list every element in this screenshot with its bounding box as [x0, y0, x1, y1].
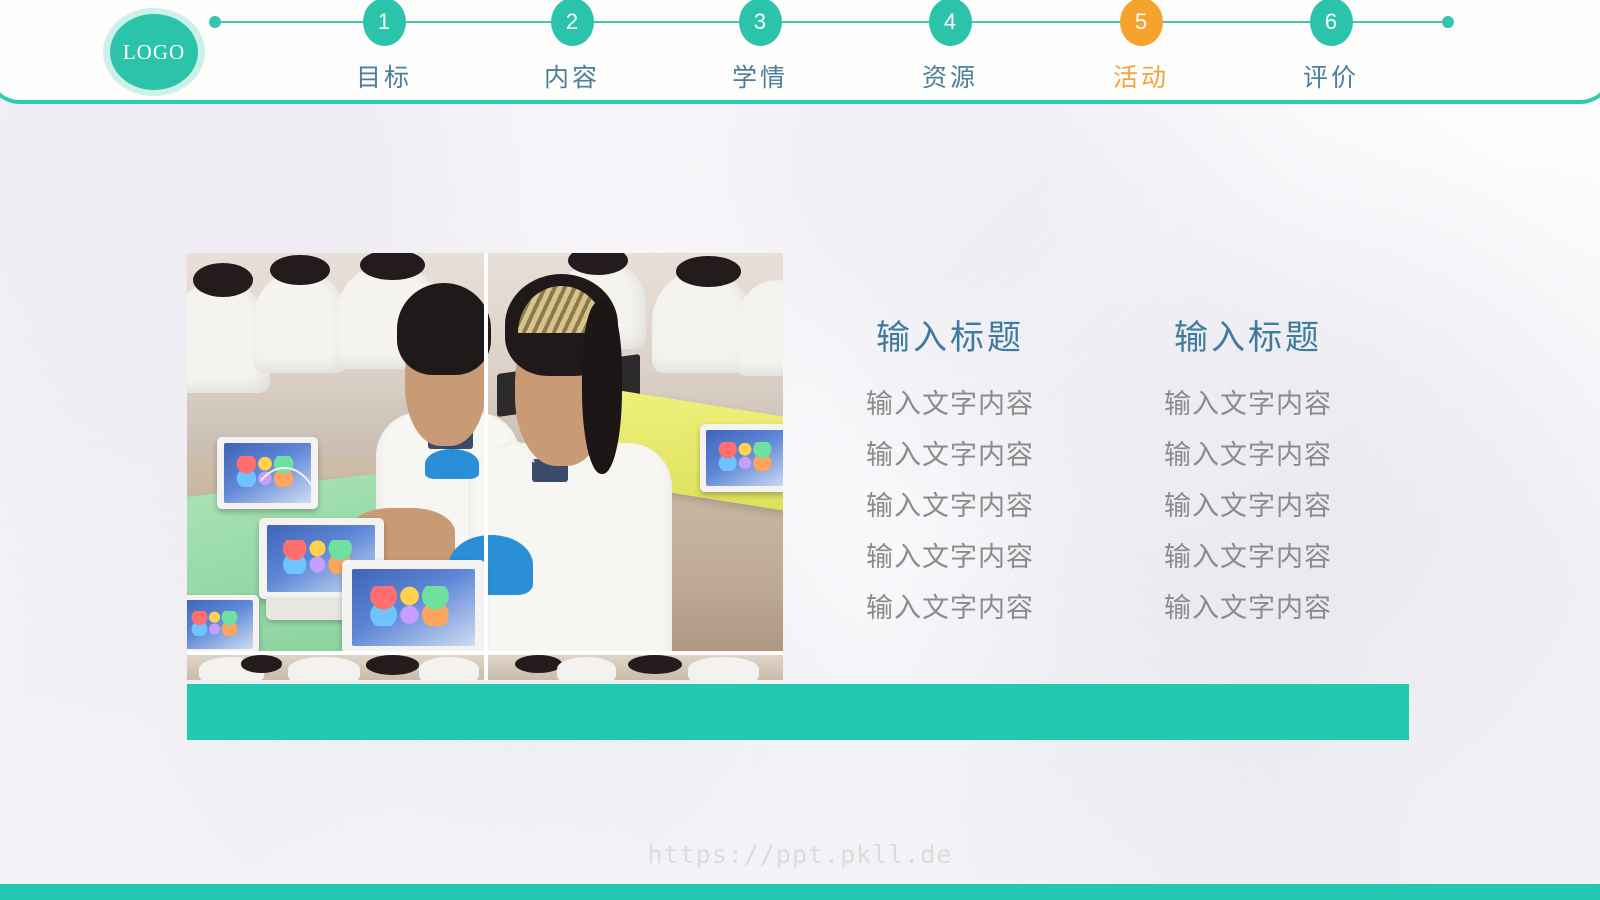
- logo-circle-icon: LOGO: [110, 14, 198, 90]
- photo-blue-stool-2: [425, 449, 479, 479]
- nav-step-2[interactable]: 2 内容: [512, 0, 632, 94]
- nav-step-6[interactable]: 6 评价: [1271, 0, 1391, 94]
- step-label: 资源: [890, 58, 1010, 94]
- step-number-badge: 6: [1310, 0, 1353, 46]
- nav-step-5[interactable]: 5 活动: [1081, 0, 1201, 94]
- tablet-screen: [706, 430, 783, 486]
- column-line: 输入文字内容: [1098, 583, 1398, 634]
- step-number-badge: 1: [363, 0, 406, 46]
- column-line: 输入文字内容: [800, 430, 1100, 481]
- watermark-url: https://ppt.pkll.de: [0, 840, 1600, 869]
- column-line: 输入文字内容: [1098, 379, 1398, 430]
- column-line: 输入文字内容: [800, 481, 1100, 532]
- photo-tablet-3: [342, 560, 485, 654]
- content-column-2: 输入标题 输入文字内容 输入文字内容 输入文字内容 输入文字内容 输入文字内容: [1098, 310, 1398, 634]
- photo-vertical-seam: [484, 253, 488, 680]
- step-number-badge: 4: [929, 0, 972, 46]
- photo-scene: [187, 253, 783, 680]
- step-number-badge: 5: [1120, 0, 1163, 46]
- header-inner: LOGO 1 目标 2 内容 3 学情 4 资源 5: [0, 0, 1600, 100]
- step-number-badge: 3: [739, 0, 782, 46]
- column-line: 输入文字内容: [800, 532, 1100, 583]
- step-label: 目标: [324, 58, 444, 94]
- timeline-end-dot-icon: [1442, 16, 1454, 28]
- step-label: 学情: [700, 58, 820, 94]
- logo[interactable]: LOGO: [103, 8, 205, 96]
- step-label: 活动: [1081, 58, 1201, 94]
- photo-tablet-4: [700, 424, 783, 492]
- column-line: 输入文字内容: [1098, 430, 1398, 481]
- slide-root: LOGO 1 目标 2 内容 3 学情 4 资源 5: [0, 0, 1600, 900]
- column-title: 输入标题: [800, 310, 1100, 359]
- bottom-accent-bar: [0, 884, 1600, 900]
- content-column-1: 输入标题 输入文字内容 输入文字内容 输入文字内容 输入文字内容 输入文字内容: [800, 310, 1100, 634]
- tablet-screen: [352, 569, 475, 646]
- photo-tablet-5: [187, 595, 259, 655]
- nav-step-1[interactable]: 1 目标: [324, 0, 444, 94]
- column-line: 输入文字内容: [1098, 481, 1398, 532]
- timeline-start-dot-icon: [209, 16, 221, 28]
- nav-step-4[interactable]: 4 资源: [890, 0, 1010, 94]
- step-label: 内容: [512, 58, 632, 94]
- step-number-badge: 2: [551, 0, 594, 46]
- step-label: 评价: [1271, 58, 1391, 94]
- column-line: 输入文字内容: [800, 583, 1100, 634]
- column-line: 输入文字内容: [800, 379, 1100, 430]
- tablet-screen: [187, 600, 253, 649]
- column-line: 输入文字内容: [1098, 532, 1398, 583]
- logo-text: LOGO: [123, 40, 185, 65]
- nav-step-3[interactable]: 3 学情: [700, 0, 820, 94]
- header-bar: LOGO 1 目标 2 内容 3 学情 4 资源 5: [0, 0, 1600, 104]
- teal-banner: [187, 684, 1409, 740]
- column-title: 输入标题: [1098, 310, 1398, 359]
- classroom-photo: [187, 253, 783, 680]
